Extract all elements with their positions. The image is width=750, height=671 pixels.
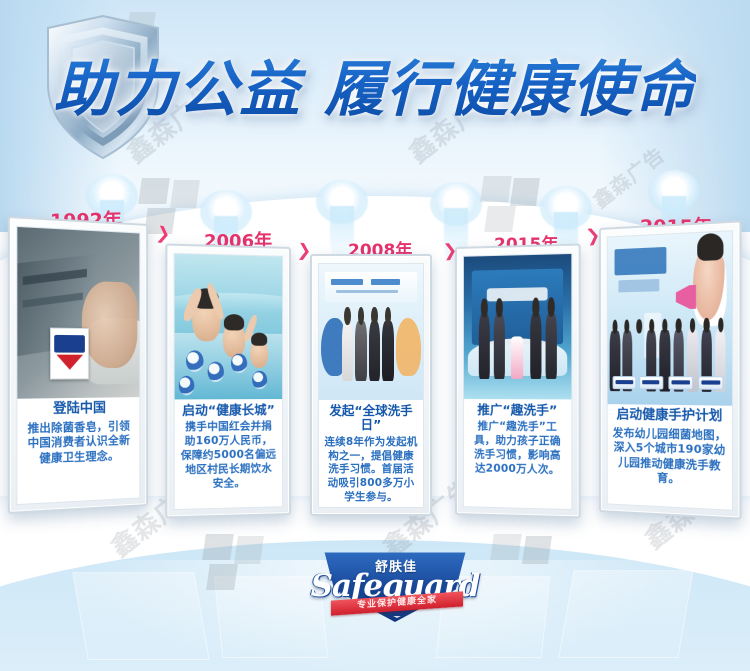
timeline-arrow: ❯ [155, 225, 171, 244]
panel-title: 启动健康手护计划 [613, 408, 727, 425]
panel-caption: 启动“健康长城” 携手中国红会并捐助160万人民币，保障约5000名偏远地区村民… [175, 399, 282, 509]
panel-body: 推出除菌香皂，引领中国消费者认识全新健康卫生理念。 [23, 419, 135, 467]
panel-photo [319, 264, 423, 400]
watermark-block [138, 178, 170, 204]
panel-caption: 推广“趣洗手” 推广“趣洗手”工具，助力孩子正确洗手习惯，影响高达2000万人次… [464, 399, 571, 509]
timeline-panel-1992[interactable]: 登陆中国 推出除菌香皂，引领中国消费者认识全新健康卫生理念。 [8, 216, 148, 514]
watermark-block [510, 178, 540, 206]
panel-title: 登陆中国 [23, 401, 135, 418]
panel-body: 推广“趣洗手”工具，助力孩子正确洗手习惯，影响高达2000万人次。 [469, 420, 566, 478]
floor-reflection [72, 572, 210, 660]
timeline-panel-2006[interactable]: 启动“健康长城” 携手中国红会并捐助160万人民币，保障约5000名偏远地区村民… [165, 243, 291, 518]
panel-photo [175, 254, 282, 399]
poster-canvas: 鑫森广告 鑫森广告 鑫森广告 鑫森广告 鑫森广告 鑫森广告 [0, 0, 750, 671]
watermark-block [206, 564, 238, 590]
panel-photo [464, 254, 571, 399]
panel-caption: 启动健康手护计划 发布幼儿园细菌地图，深入5个城市190家幼儿园推动健康洗手教育… [608, 404, 732, 510]
timeline-panel-2015-qxs[interactable]: 推广“趣洗手” 推广“趣洗手”工具，助力孩子正确洗手习惯，影响高达2000万人次… [455, 243, 581, 518]
watermark-block [480, 176, 512, 202]
panel-caption: 发起“全球洗手日” 连续8年作为发起机构之一，提倡健康洗手习惯。首届活动吸引80… [319, 400, 423, 507]
safeguard-logo: 舒肤佳 Safeguard 专业保护健康全家 [305, 548, 485, 626]
panel-title: 推广“趣洗手” [469, 403, 566, 418]
page-title: 助力公益 履行健康使命 [0, 34, 750, 134]
panel-body: 携手中国红会并捐助160万人民币，保障约5000名偏远地区村民长期饮水安全。 [180, 420, 277, 492]
watermark-block [170, 180, 200, 208]
ceiling-spotlight [430, 182, 482, 226]
page-title-text: 助力公益 履行健康使命 [54, 41, 697, 128]
watermark-block [234, 536, 264, 564]
panel-caption: 登陆中国 推出除菌香皂，引领中国消费者认识全新健康卫生理念。 [17, 397, 139, 504]
watermark-block [484, 206, 516, 232]
panel-title: 发起“全球洗手日” [324, 404, 418, 433]
ceiling-spotlight [648, 170, 700, 214]
timeline-panel-2008[interactable]: 发起“全球洗手日” 连续8年作为发起机构之一，提倡健康洗手习惯。首届活动吸引80… [310, 254, 432, 516]
watermark-block [522, 536, 552, 564]
floor-reflection [558, 570, 694, 658]
ceiling-spotlight [316, 180, 368, 224]
timeline-panel-2015-shsj[interactable]: 启动健康手护计划 发布幼儿园细菌地图，深入5个城市190家幼儿园推动健康洗手教育… [599, 220, 742, 520]
watermark-block [490, 534, 522, 560]
panel-photo [608, 231, 732, 405]
panel-body: 连续8年作为发起机构之一，提倡健康洗手习惯。首届活动吸引800多万小学生参与。 [324, 436, 418, 505]
ceiling-spotlight [540, 186, 592, 230]
panel-body: 发布幼儿园细菌地图，深入5个城市190家幼儿园推动健康洗手教育。 [613, 426, 727, 489]
watermark-block [202, 534, 234, 560]
panel-photo [17, 227, 139, 399]
panel-title: 启动“健康长城” [180, 403, 277, 418]
